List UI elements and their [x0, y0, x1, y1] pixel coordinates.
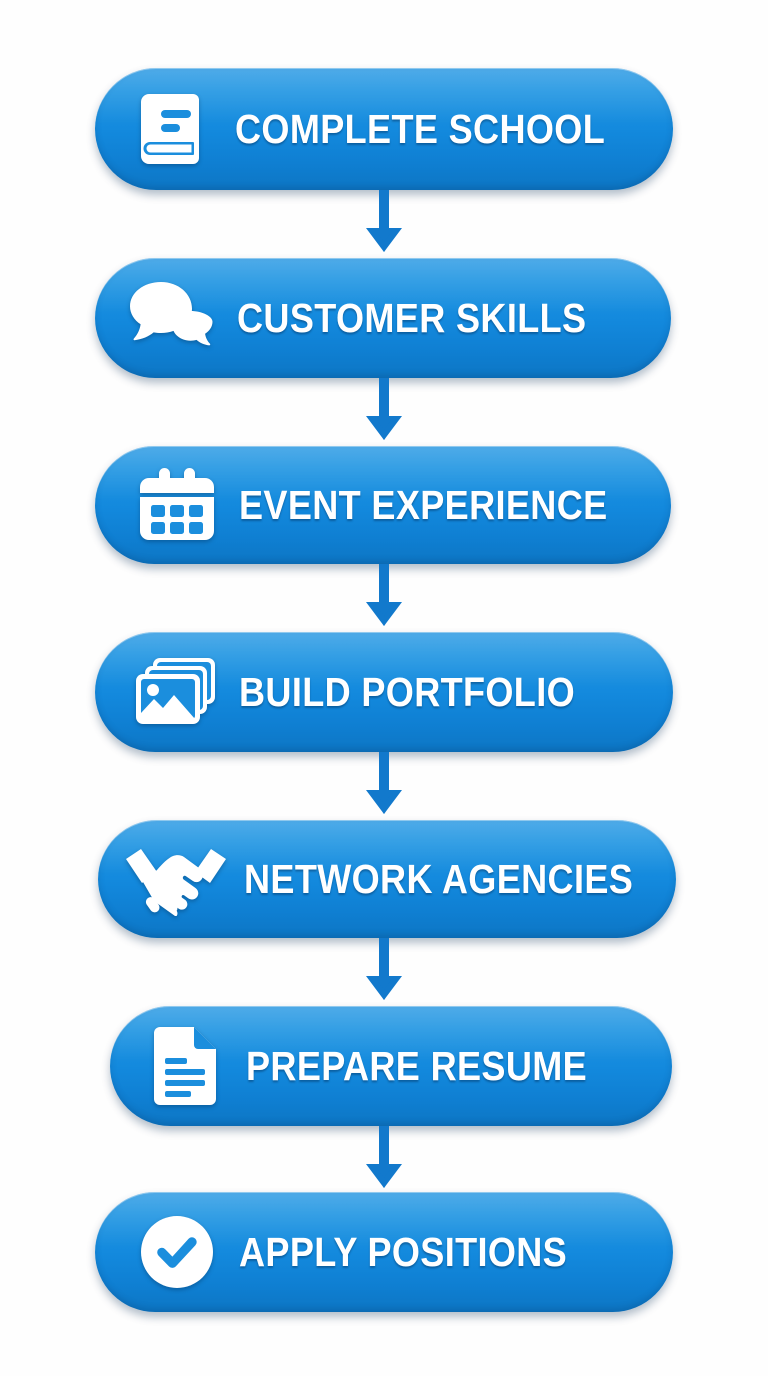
step-label: COMPLETE SCHOOL: [235, 109, 605, 150]
flowchart-canvas: COMPLETE SCHOOL CUSTOMER SKILLS: [0, 0, 768, 1376]
handshake-icon: [124, 842, 228, 916]
photo-stack-icon: [133, 656, 219, 728]
step-label: NETWORK AGENCIES: [244, 859, 633, 900]
document-icon: [152, 1025, 222, 1107]
step-build-portfolio[interactable]: BUILD PORTFOLIO: [95, 632, 673, 752]
step-event-experience[interactable]: EVENT EXPERIENCE: [95, 446, 671, 564]
next-step-arrow: [0, 752, 768, 820]
step-label: APPLY POSITIONS: [239, 1232, 567, 1273]
next-step-arrow: [0, 564, 768, 632]
next-step-arrow: [0, 938, 768, 1006]
next-step-arrow: [0, 1126, 768, 1194]
step-apply-positions[interactable]: APPLY POSITIONS: [95, 1192, 673, 1312]
step-customer-skills[interactable]: CUSTOMER SKILLS: [95, 258, 671, 378]
step-network-agencies[interactable]: NETWORK AGENCIES: [98, 820, 676, 938]
next-step-arrow: [0, 378, 768, 446]
speech-bubbles-icon: [127, 280, 219, 356]
step-label: PREPARE RESUME: [246, 1046, 587, 1087]
step-label: BUILD PORTFOLIO: [239, 672, 575, 713]
check-circle-icon: [139, 1214, 215, 1290]
book-icon: [137, 90, 211, 168]
calendar-icon: [137, 466, 217, 544]
step-label: CUSTOMER SKILLS: [237, 298, 586, 339]
step-complete-school[interactable]: COMPLETE SCHOOL: [95, 68, 673, 190]
step-label: EVENT EXPERIENCE: [239, 485, 608, 526]
next-step-arrow: [0, 190, 768, 258]
step-prepare-resume[interactable]: PREPARE RESUME: [110, 1006, 672, 1126]
